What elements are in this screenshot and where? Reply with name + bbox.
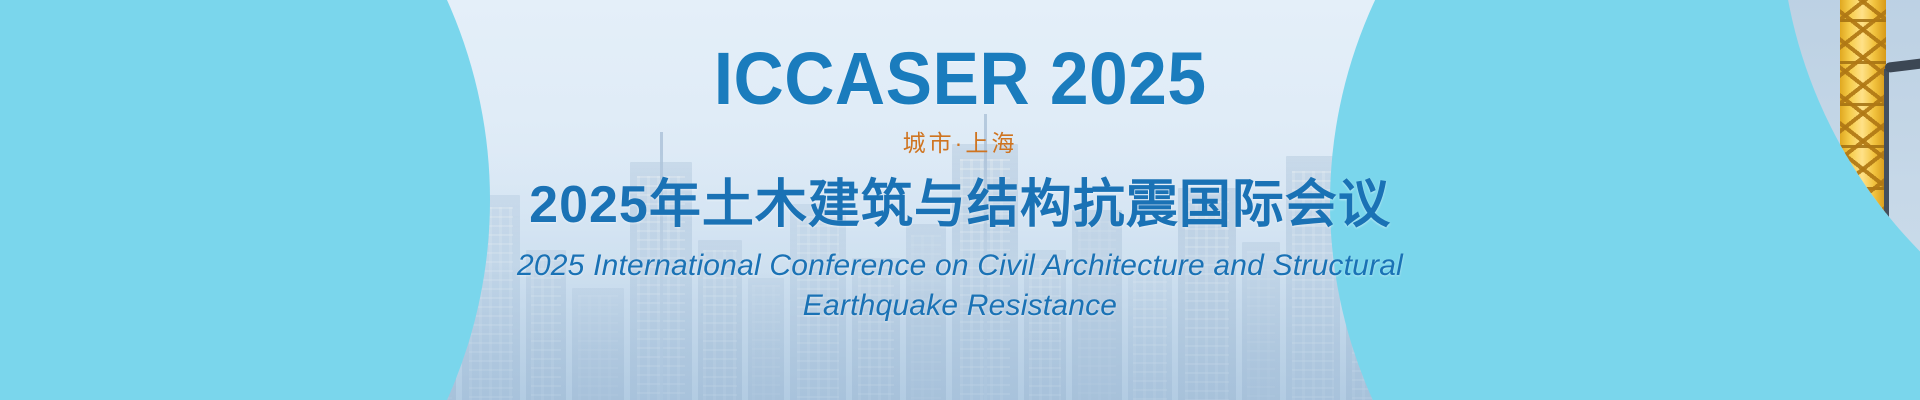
construction-deck bbox=[1780, 331, 1920, 400]
street-lamp-tall bbox=[1884, 69, 1889, 369]
conference-acronym: ICCASER 2025 bbox=[714, 42, 1207, 116]
city-subtitle: 城市·上海 bbox=[903, 132, 1018, 155]
banner-text-block: ICCASER 2025 城市·上海 2025年土木建筑与结构抗震国际会议 20… bbox=[400, 0, 1520, 400]
right-photo-construction-site: 1 3 bbox=[1780, 0, 1920, 400]
conference-title-english-line1: 2025 International Conference on Civil A… bbox=[517, 246, 1403, 286]
lamp-head-icon bbox=[1884, 57, 1920, 73]
conference-title-chinese: 2025年土木建筑与结构抗震国际会议 bbox=[529, 177, 1391, 234]
conference-title-english: 2025 International Conference on Civil A… bbox=[517, 246, 1403, 325]
conference-banner: 1 3 ICCASER 2025 城市·上海 bbox=[0, 0, 1920, 400]
conference-title-english-line2: Earthquake Resistance bbox=[517, 286, 1403, 326]
